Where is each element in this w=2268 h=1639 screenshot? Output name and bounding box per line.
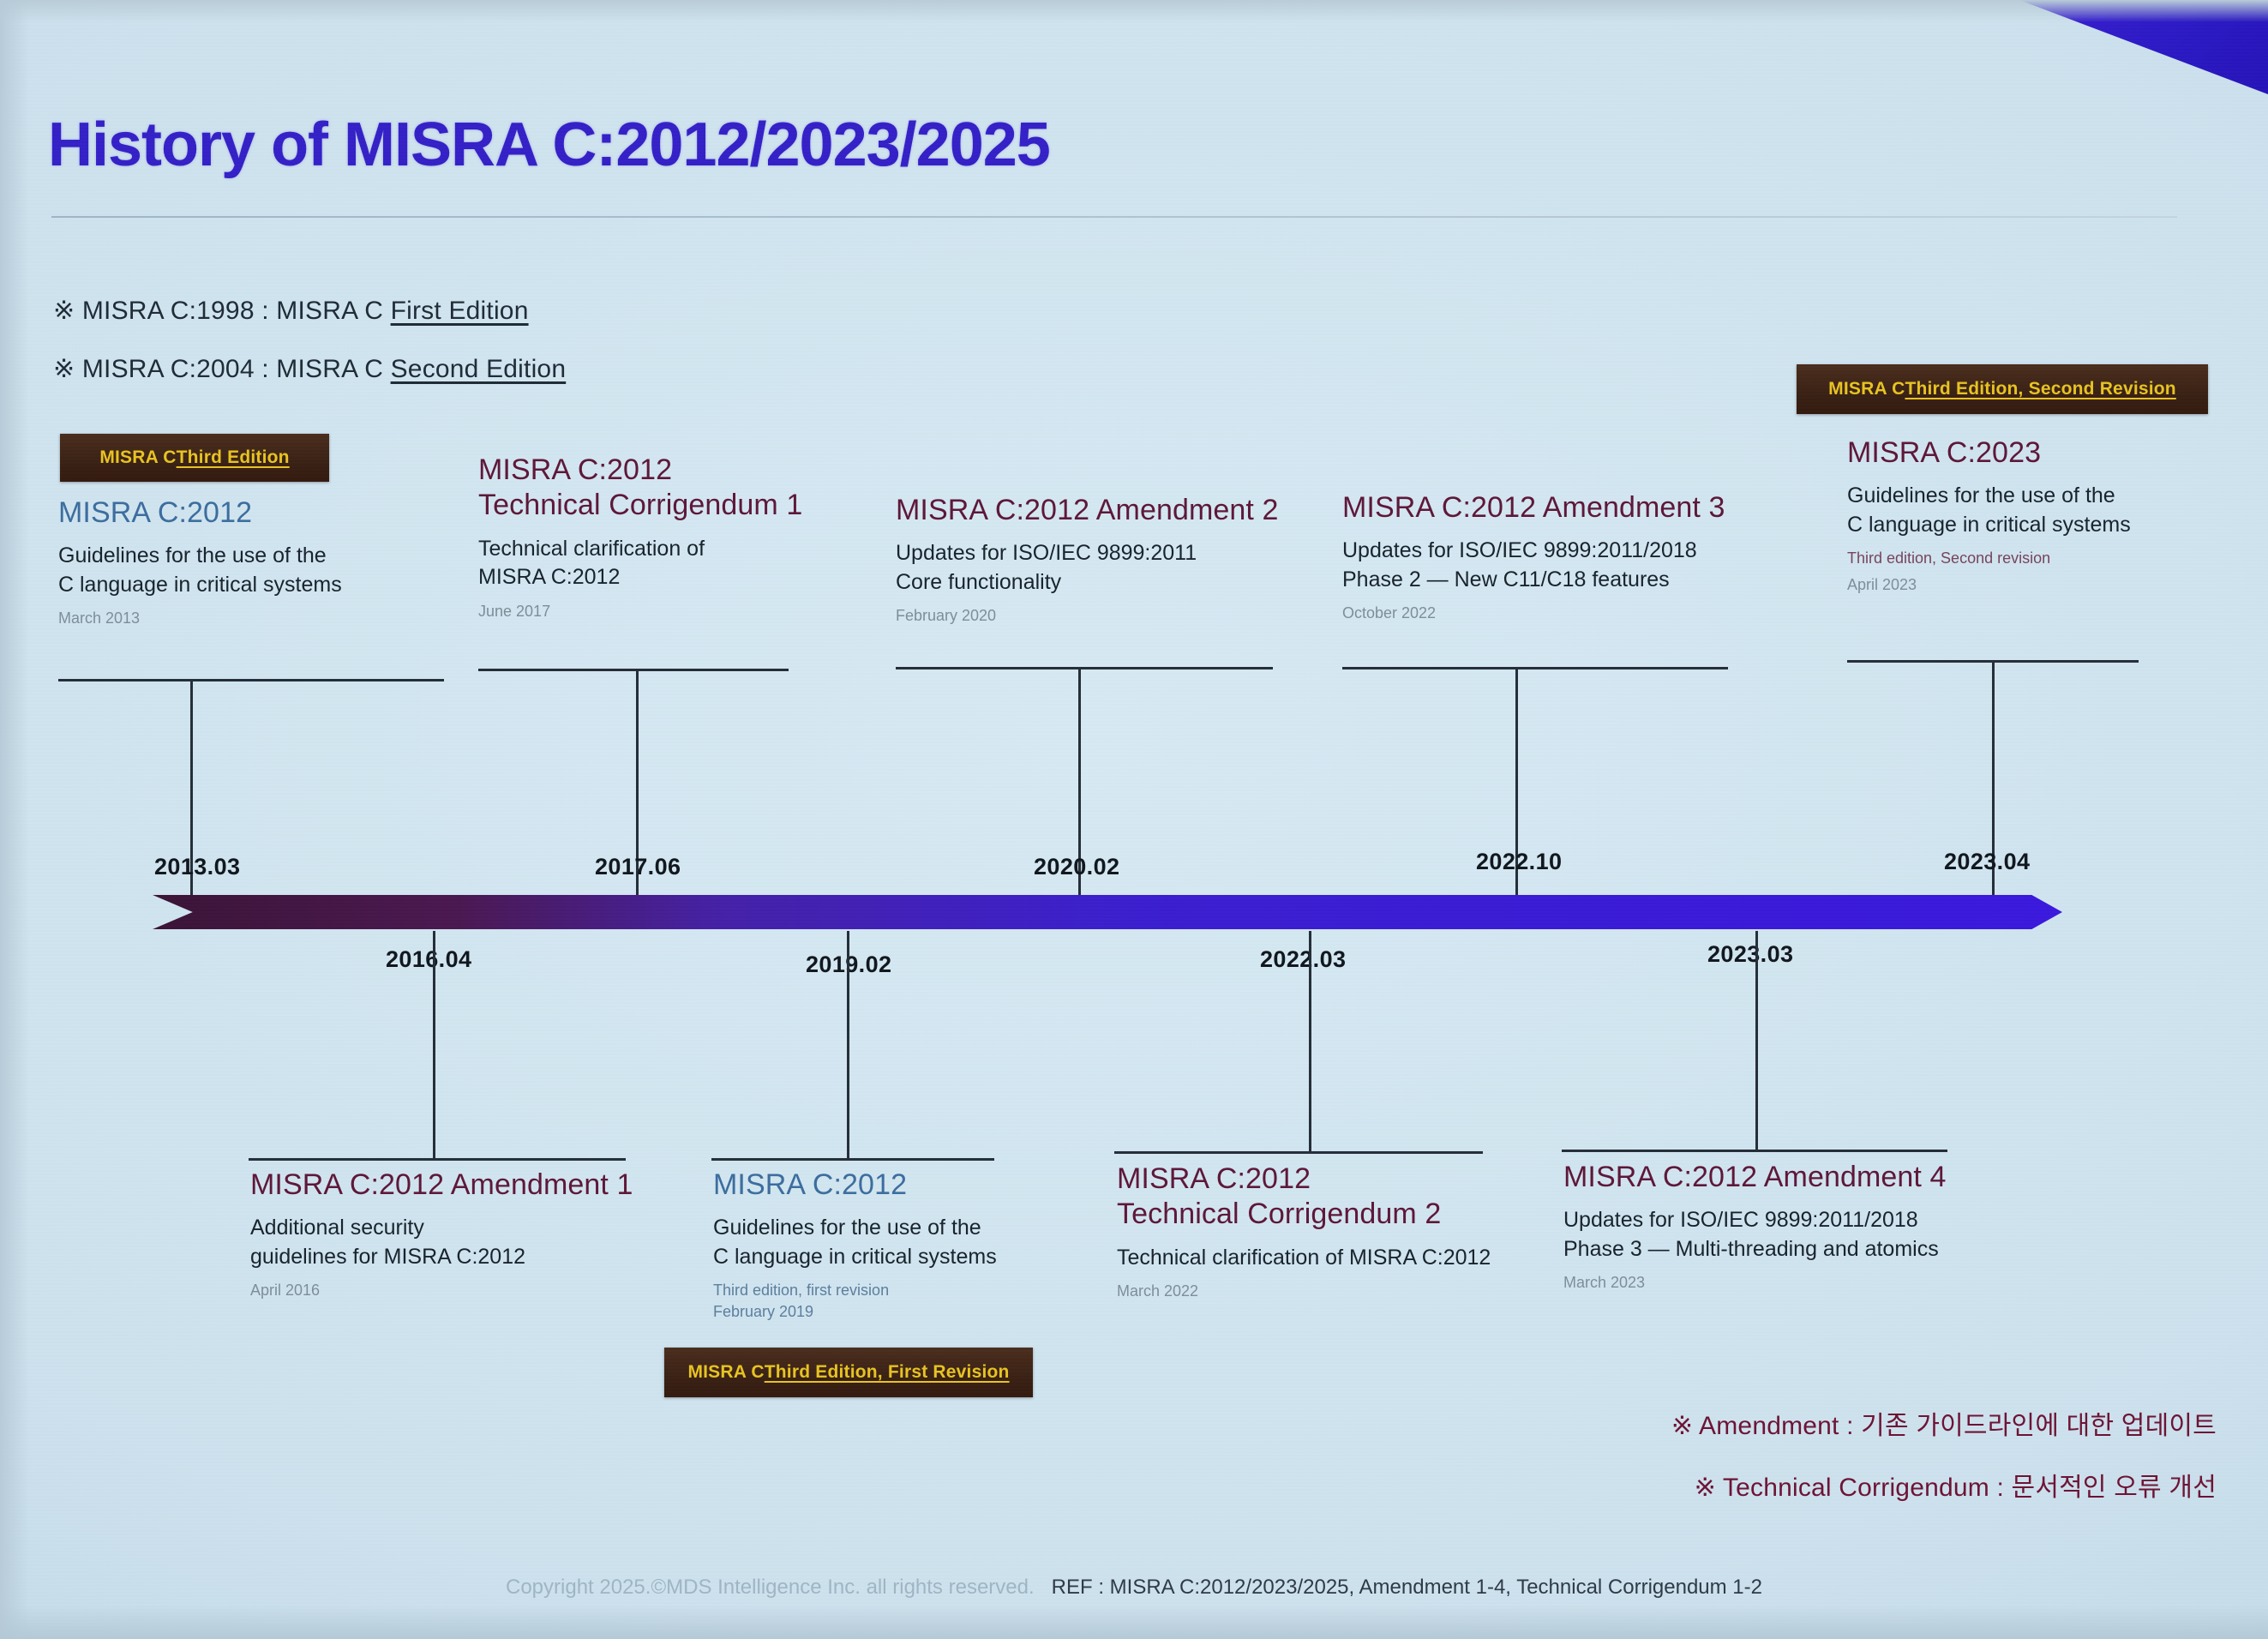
badge-third-edition: MISRA C Third Edition bbox=[60, 434, 329, 482]
entry-description-line2: Core functionality bbox=[896, 569, 1279, 597]
entry-rule-2022-10 bbox=[1342, 667, 1728, 669]
left-vignette bbox=[0, 0, 29, 1639]
footer-copyright: Copyright 2025.©MDS Intelligence Inc. al… bbox=[506, 1576, 1035, 1599]
badge-prefix: MISRA C bbox=[687, 1362, 764, 1383]
entry-date: February 2019 bbox=[713, 1302, 997, 1322]
legend-amendment: ※ Amendment : 기존 가이드라인에 대한 업데이트 bbox=[1671, 1404, 2217, 1442]
entry-dropline-2023-03 bbox=[1755, 931, 1758, 1152]
note-prefix: ※ MISRA C:2004 : MISRA C bbox=[53, 355, 391, 383]
entry-date: March 2022 bbox=[1117, 1282, 1491, 1301]
entry-description-line2: guidelines for MISRA C:2012 bbox=[250, 1244, 633, 1271]
timeline-entry-2016-04: MISRA C:2012 Amendment 1 Additional secu… bbox=[250, 1168, 633, 1300]
entry-description-line2: MISRA C:2012 bbox=[478, 564, 802, 591]
entry-title: MISRA C:2012 bbox=[713, 1168, 997, 1203]
note-misra-c-2004: ※ MISRA C:2004 : MISRA C Second Edition bbox=[53, 354, 566, 384]
entry-description-line1: Updates for ISO/IEC 9899:2011 bbox=[896, 540, 1279, 567]
entry-title: MISRA C:2012 Amendment 3 bbox=[1342, 490, 1725, 525]
entry-dropline-2019-02 bbox=[847, 931, 849, 1161]
entry-description-line2: C language in critical systems bbox=[713, 1244, 997, 1271]
badge-prefix: MISRA C bbox=[99, 447, 176, 468]
screen-grain-overlay bbox=[0, 0, 2268, 1639]
legend-technical-corrigendum: ※ Technical Corrigendum : 문서적인 오류 개선 bbox=[1695, 1466, 2217, 1504]
note-underlined: First Edition bbox=[391, 297, 529, 325]
timeline-entry-2020-02: MISRA C:2012 Amendment 2 Updates for ISO… bbox=[896, 493, 1279, 626]
entry-description-line1: Updates for ISO/IEC 9899:2011/2018 bbox=[1342, 537, 1725, 565]
entry-description-line2: Phase 3 — Multi-threading and atomics bbox=[1563, 1236, 1947, 1264]
entry-title: MISRA C:2012 bbox=[478, 453, 802, 488]
timeline-entry-2022-10: MISRA C:2012 Amendment 3 Updates for ISO… bbox=[1342, 490, 1725, 623]
year-marker-2023-03: 2023.03 bbox=[1707, 941, 1793, 968]
note-misra-c-1998: ※ MISRA C:1998 : MISRA C First Edition bbox=[53, 296, 529, 326]
entry-title: MISRA C:2012 bbox=[1117, 1162, 1491, 1197]
year-marker-2017-06: 2017.06 bbox=[595, 854, 681, 880]
entry-rule-2023-03 bbox=[1562, 1150, 1947, 1152]
year-marker-2022-10: 2022.10 bbox=[1476, 849, 1562, 875]
timeline-entry-2017-06: MISRA C:2012 Technical Corrigendum 1 Tec… bbox=[478, 453, 802, 621]
badge-third-edition-second-revision: MISRA C Third Edition, Second Revision bbox=[1797, 364, 2208, 414]
timeline-entry-2013-03: MISRA C:2012 Guidelines for the use of t… bbox=[58, 495, 342, 628]
entry-description-line1: Technical clarification of MISRA C:2012 bbox=[1117, 1245, 1491, 1272]
entry-description-line1: Guidelines for the use of the bbox=[1847, 483, 2131, 510]
entry-rule-2013-03 bbox=[58, 679, 444, 681]
entry-title: MISRA C:2012 bbox=[58, 495, 342, 531]
slide-canvas: History of MISRA C:2012/2023/2025 ※ MISR… bbox=[0, 0, 2268, 1639]
entry-title-line2: Technical Corrigendum 1 bbox=[478, 488, 802, 523]
footer-reference: REF : MISRA C:2012/2023/2025, Amendment … bbox=[1052, 1576, 1762, 1599]
page-title: History of MISRA C:2012/2023/2025 bbox=[48, 110, 1050, 180]
entry-subtitle: Third edition, Second revision bbox=[1847, 549, 2131, 568]
entry-title: MISRA C:2012 Amendment 4 bbox=[1563, 1160, 1947, 1195]
entry-date: April 2023 bbox=[1847, 575, 2131, 595]
entry-description-line2: C language in critical systems bbox=[58, 572, 342, 599]
timeline-entry-2023-04: MISRA C:2023 Guidelines for the use of t… bbox=[1847, 435, 2131, 594]
entry-description-line1: Technical clarification of bbox=[478, 536, 802, 563]
year-marker-2022-03: 2022.03 bbox=[1260, 946, 1346, 973]
entry-description-line1: Updates for ISO/IEC 9899:2011/2018 bbox=[1563, 1207, 1947, 1234]
entry-date: June 2017 bbox=[478, 602, 802, 621]
badge-prefix: MISRA C bbox=[1828, 379, 1905, 399]
year-marker-2016-04: 2016.04 bbox=[386, 946, 471, 973]
entry-date: March 2023 bbox=[1563, 1273, 1947, 1293]
entry-rule-2017-06 bbox=[478, 669, 789, 671]
timeline-entry-2023-03: MISRA C:2012 Amendment 4 Updates for ISO… bbox=[1563, 1160, 1947, 1293]
entry-title: MISRA C:2023 bbox=[1847, 435, 2131, 471]
footer: Copyright 2025.©MDS Intelligence Inc. al… bbox=[0, 1576, 2268, 1600]
entry-description-line2: C language in critical systems bbox=[1847, 512, 2131, 539]
badge-underlined: Third Edition bbox=[177, 447, 290, 468]
year-marker-2013-03: 2013.03 bbox=[154, 854, 240, 880]
bottom-vignette bbox=[0, 1605, 2268, 1639]
badge-underlined: Third Edition, Second Revision bbox=[1905, 379, 2175, 399]
entry-title-line2: Technical Corrigendum 2 bbox=[1117, 1197, 1491, 1232]
entry-title: MISRA C:2012 Amendment 1 bbox=[250, 1168, 633, 1203]
entry-date: April 2016 bbox=[250, 1281, 633, 1300]
entry-title: MISRA C:2012 Amendment 2 bbox=[896, 493, 1279, 528]
timeline-entry-2019-02: MISRA C:2012 Guidelines for the use of t… bbox=[713, 1168, 997, 1321]
entry-date: October 2022 bbox=[1342, 603, 1725, 623]
note-prefix: ※ MISRA C:1998 : MISRA C bbox=[53, 297, 391, 325]
badge-underlined: Third Edition, First Revision bbox=[765, 1362, 1010, 1383]
entry-description-line1: Additional security bbox=[250, 1215, 633, 1242]
entry-dropline-2022-03 bbox=[1309, 931, 1311, 1154]
entry-rule-2022-03 bbox=[1114, 1151, 1483, 1154]
badge-third-edition-first-revision: MISRA C Third Edition, First Revision bbox=[664, 1348, 1033, 1397]
entry-dropline-2016-04 bbox=[433, 931, 435, 1161]
entry-rule-2020-02 bbox=[896, 667, 1273, 669]
year-marker-2023-04: 2023.04 bbox=[1944, 849, 2030, 875]
entry-date: February 2020 bbox=[896, 606, 1279, 626]
entry-subtitle: Third edition, first revision bbox=[713, 1281, 997, 1300]
timeline-entry-2022-03: MISRA C:2012 Technical Corrigendum 2 Tec… bbox=[1117, 1162, 1491, 1301]
note-underlined: Second Edition bbox=[391, 355, 567, 383]
entry-description-line1: Guidelines for the use of the bbox=[58, 543, 342, 570]
entry-rule-2016-04 bbox=[249, 1158, 626, 1161]
title-divider bbox=[51, 216, 2177, 218]
year-marker-2020-02: 2020.02 bbox=[1034, 854, 1119, 880]
top-vignette bbox=[0, 0, 2268, 22]
entry-description-line2: Phase 2 — New C11/C18 features bbox=[1342, 567, 1725, 594]
entry-date: March 2013 bbox=[58, 609, 342, 628]
entry-rule-2019-02 bbox=[711, 1158, 994, 1161]
entry-description-line1: Guidelines for the use of the bbox=[713, 1215, 997, 1242]
timeline-bar bbox=[153, 895, 2062, 929]
